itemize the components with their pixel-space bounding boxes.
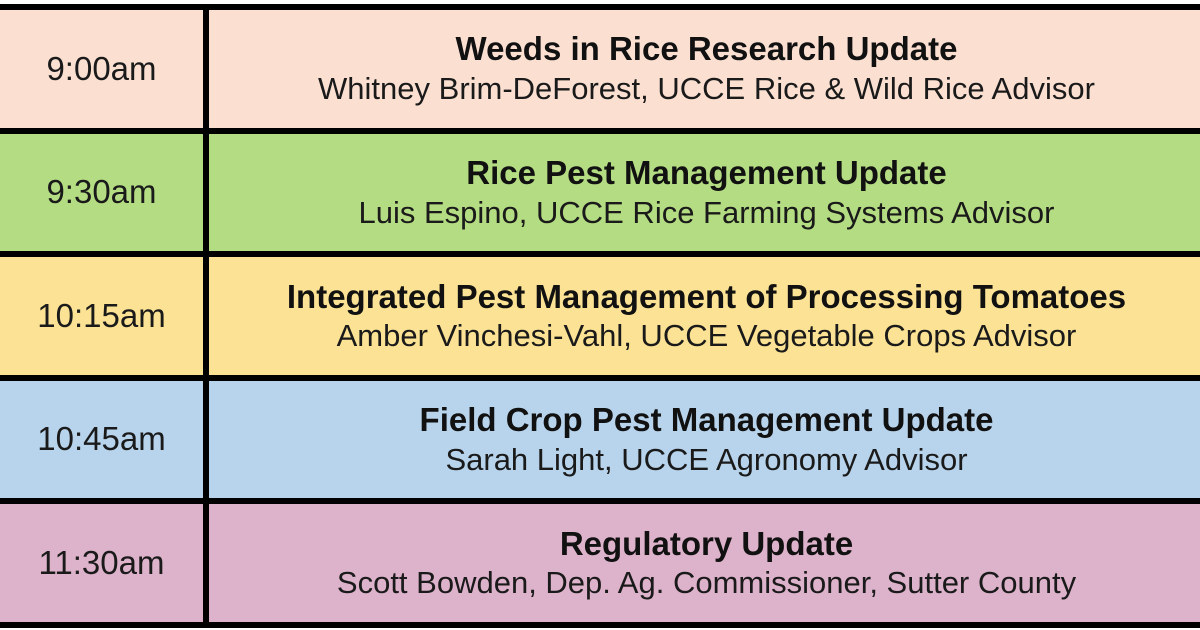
session-speaker: Scott Bowden, Dep. Ag. Commissioner, Sut…	[337, 564, 1076, 601]
session-time-cell: 9:00am	[0, 10, 209, 128]
session-title: Regulatory Update	[560, 525, 853, 564]
session-detail-cell: Field Crop Pest Management UpdateSarah L…	[209, 381, 1200, 499]
session-title: Weeds in Rice Research Update	[456, 30, 958, 69]
session-detail-cell: Weeds in Rice Research UpdateWhitney Bri…	[209, 10, 1200, 128]
schedule-row: 9:30amRice Pest Management UpdateLuis Es…	[0, 128, 1200, 252]
session-time-cell: 9:30am	[0, 134, 209, 252]
session-speaker: Amber Vinchesi-Vahl, UCCE Vegetable Crop…	[337, 317, 1077, 354]
session-detail-cell: Integrated Pest Management of Processing…	[209, 257, 1200, 375]
schedule-row: 10:45amField Crop Pest Management Update…	[0, 375, 1200, 499]
session-speaker: Whitney Brim-DeForest, UCCE Rice & Wild …	[318, 70, 1095, 107]
session-speaker: Sarah Light, UCCE Agronomy Advisor	[445, 441, 967, 478]
schedule-row: 11:30amRegulatory UpdateScott Bowden, De…	[0, 498, 1200, 628]
session-time-cell: 10:45am	[0, 381, 209, 499]
session-time-cell: 10:15am	[0, 257, 209, 375]
session-title: Rice Pest Management Update	[466, 154, 946, 193]
schedule-row: 10:15amIntegrated Pest Management of Pro…	[0, 251, 1200, 375]
schedule-row: 9:00amWeeds in Rice Research UpdateWhitn…	[0, 4, 1200, 128]
session-detail-cell: Rice Pest Management UpdateLuis Espino, …	[209, 134, 1200, 252]
session-detail-cell: Regulatory UpdateScott Bowden, Dep. Ag. …	[209, 504, 1200, 622]
session-title: Field Crop Pest Management Update	[420, 401, 994, 440]
session-time-cell: 11:30am	[0, 504, 209, 622]
session-title: Integrated Pest Management of Processing…	[287, 278, 1126, 317]
session-speaker: Luis Espino, UCCE Rice Farming Systems A…	[358, 194, 1054, 231]
schedule-table: 9:00amWeeds in Rice Research UpdateWhitn…	[0, 0, 1200, 630]
